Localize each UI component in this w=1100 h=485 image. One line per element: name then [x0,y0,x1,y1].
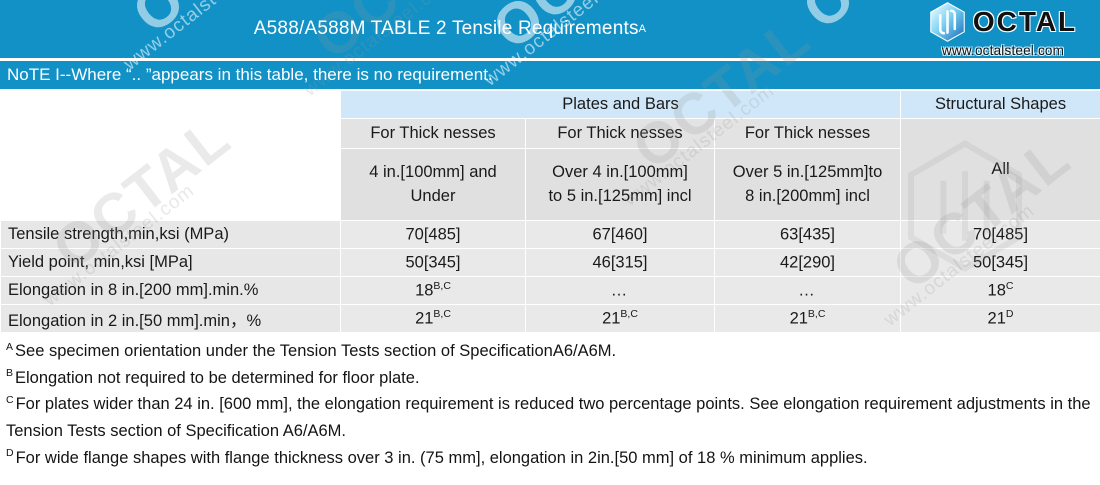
table-row: Yield point, min,ksi [MPa] 50[345] 46[31… [1,249,1100,277]
cell-value: 70[485] [405,226,460,244]
footnote-d-marker: D [6,447,14,459]
cell-value: … [611,282,630,300]
footnotes: ASee specimen orientation under the Tens… [6,338,1096,472]
cell-value: 18 [415,282,433,300]
table-group-header-row: Plates and Bars Structural Shapes [1,91,1100,119]
footnote-b: BElongation not required to be determine… [6,365,1096,392]
row-3-cell-1: 21B,C [526,305,715,333]
row-label: Tensile strength,min,ksi (MPa) [1,221,341,249]
sub-header-thicknesses-1: For Thick nesses [341,119,526,149]
octal-logo[interactable]: OCTAL www.octalsteel.com [912,2,1094,58]
cell-superscript: B,C [808,308,826,320]
octal-website-url[interactable]: www.octalsteel.com [942,43,1064,58]
range-header-2-line2: to 5 in.[125mm] incl [548,187,691,205]
page-title-text: A588/A588M TABLE 2 Tensile Requirements [254,18,639,40]
range-header-3: Over 5 in.[125mm]to 8 in.[200mm] incl [715,149,901,221]
range-header-3-line2: 8 in.[200mm] incl [745,187,870,205]
cell-value: 21 [602,310,620,328]
footnote-a-marker: A [6,341,13,353]
row-3-cell-3: 21D [901,305,1100,333]
range-header-1-line1: 4 in.[100mm] and [369,163,497,181]
footnote-d: DFor wide flange shapes with flange thic… [6,445,1096,472]
cell-superscript: C [1006,280,1014,292]
footnote-c-marker: C [6,394,14,406]
cell-value: 21 [415,310,433,328]
page-title: A588/A588M TABLE 2 Tensile RequirementsA [0,0,900,58]
footnote-a: ASee specimen orientation under the Tens… [6,338,1096,365]
cell-value: 46[315] [592,254,647,272]
row-label: Yield point, min,ksi [MPa] [1,249,341,277]
row-1-cell-3: 50[345] [901,249,1100,277]
row-label: Elongation in 8 in.[200 mm].min.% [1,277,341,305]
row-2-cell-2: … [715,277,901,305]
row-3-cell-2: 21B,C [715,305,901,333]
cell-value: 63[435] [780,226,835,244]
row-2-cell-1: … [526,277,715,305]
row-label: Elongation in 2 in.[50 mm].min，% [1,305,341,333]
range-header-1-line2: Under [411,187,456,205]
cell-value: 50[345] [973,254,1028,272]
row-0-cell-1: 67[460] [526,221,715,249]
row-1-cell-1: 46[315] [526,249,715,277]
row-0-cell-2: 63[435] [715,221,901,249]
cell-value: 50[345] [405,254,460,272]
page-title-superscript: A [639,23,647,35]
cell-value: 21 [988,310,1006,328]
range-header-1: 4 in.[100mm] and Under [341,149,526,221]
row-2-cell-0: 18B,C [341,277,526,305]
range-header-3-line1: Over 5 in.[125mm]to [733,163,882,181]
footnote-b-marker: B [6,367,13,379]
cell-value: 21 [790,310,808,328]
group-header-structural-shapes: Structural Shapes [901,91,1100,119]
range-header-2-line1: Over 4 in.[100mm] [552,163,688,181]
table-row: Elongation in 8 in.[200 mm].min.% 18B,C … [1,277,1100,305]
octal-wordmark: OCTAL [973,8,1077,36]
cell-superscript: B,C [433,308,451,320]
sub-header-thicknesses-3: For Thick nesses [715,119,901,149]
corner-cell [1,91,341,221]
cell-value: 18 [988,282,1006,300]
range-header-all: All [901,119,1100,221]
footnote-c: CFor plates wider than 24 in. [600 mm], … [6,391,1096,444]
cell-value: 42[290] [780,254,835,272]
cell-superscript: B,C [620,308,638,320]
octal-hexagon-icon [929,2,966,42]
footnote-b-text: Elongation not required to be determined… [15,369,420,387]
cell-value: … [798,282,817,300]
footnote-c-text: For plates wider than 24 in. [600 mm], t… [6,395,1091,440]
row-1-cell-0: 50[345] [341,249,526,277]
cell-value: 67[460] [592,226,647,244]
table-page: OCTAL www.octalsteel.com OCTAL www.octal… [0,0,1100,485]
table-row: Elongation in 2 in.[50 mm].min，% 21B,C 2… [1,305,1100,333]
tensile-requirements-table: Plates and Bars Structural Shapes For Th… [0,90,1100,333]
table-row: Tensile strength,min,ksi (MPa) 70[485] 6… [1,221,1100,249]
footnote-a-text: See specimen orientation under the Tensi… [15,342,616,360]
group-header-plates-and-bars: Plates and Bars [341,91,901,119]
table-note: NoTE I--Where “.. ”appears in this table… [7,61,493,89]
cell-value: 70[485] [973,226,1028,244]
cell-superscript: B,C [433,280,451,292]
range-header-2: Over 4 in.[100mm] to 5 in.[125mm] incl [526,149,715,221]
sub-header-thicknesses-2: For Thick nesses [526,119,715,149]
footnote-d-text: For wide flange shapes with flange thick… [16,449,868,467]
row-2-cell-3: 18C [901,277,1100,305]
row-1-cell-2: 42[290] [715,249,901,277]
row-0-cell-0: 70[485] [341,221,526,249]
row-3-cell-0: 21B,C [341,305,526,333]
row-0-cell-3: 70[485] [901,221,1100,249]
cell-superscript: D [1006,308,1014,320]
